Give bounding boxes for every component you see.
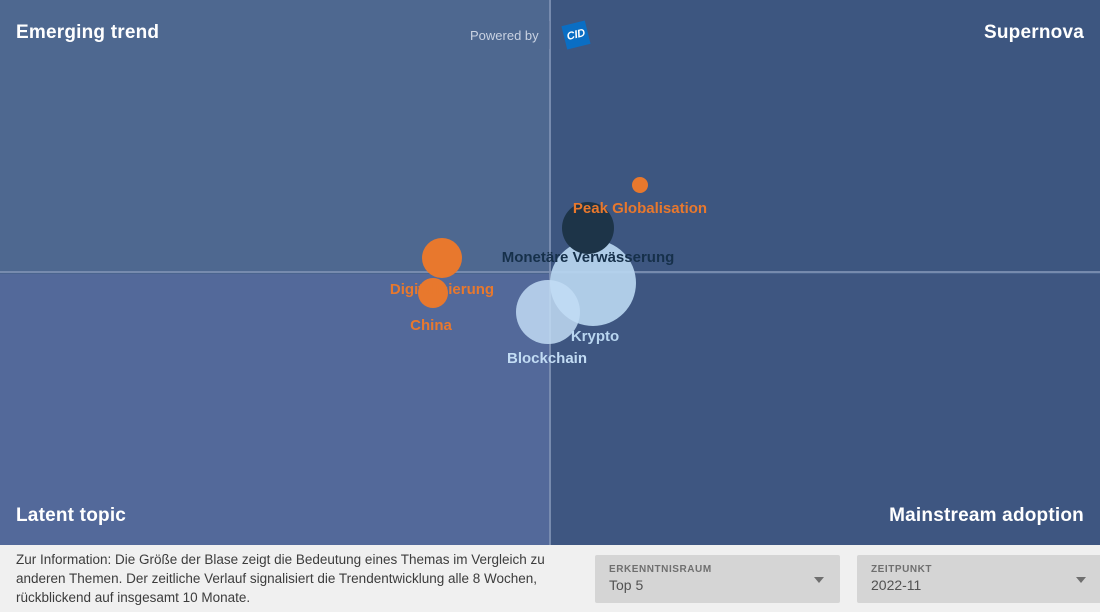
bubble-label-krypto: Krypto [571, 328, 619, 345]
axis-divider-horizontal [0, 271, 1100, 273]
footer-bar: Zur Information: Die Größe der Blase zei… [0, 545, 1100, 612]
quadrant-label-bottom-right: Mainstream adoption [889, 505, 1084, 527]
bubble-label-peak-globalisation: Peak Globalisation [573, 200, 707, 217]
select-zeitpunkt[interactable]: ZEITPUNKT 2022-11 [857, 555, 1100, 603]
trend-radar-app: Emerging trend Supernova Latent topic Ma… [0, 0, 1100, 612]
bubble-label-digitalisierung: Digitalisierung [390, 281, 494, 298]
bubble-label-blockchain: Blockchain [507, 350, 587, 367]
bubble-peak-globalisation[interactable] [632, 177, 648, 193]
cid-logo-text: CID [560, 20, 592, 50]
quadrant-label-top-left: Emerging trend [16, 22, 159, 44]
select-erkenntnisraum-value: Top 5 [609, 576, 826, 594]
select-erkenntnisraum[interactable]: ERKENNTNISRAUM Top 5 [595, 555, 840, 603]
powered-by-divider [549, 21, 550, 49]
chevron-down-icon[interactable] [814, 577, 824, 583]
footer-info-text: Zur Information: Die Größe der Blase zei… [0, 550, 595, 607]
powered-by-block: Powered by CID [470, 20, 592, 50]
bubble-label-monetaere: Monetäre Verwässerung [502, 249, 675, 266]
bubble-chart-canvas[interactable]: Emerging trend Supernova Latent topic Ma… [0, 0, 1100, 545]
bubble-digitalisierung[interactable] [422, 238, 462, 278]
chevron-down-icon[interactable] [1076, 577, 1086, 583]
powered-by-label: Powered by [470, 28, 539, 43]
select-zeitpunkt-label: ZEITPUNKT [871, 563, 1088, 576]
quadrant-label-bottom-left: Latent topic [16, 505, 126, 527]
bubble-label-china: China [410, 317, 452, 334]
select-zeitpunkt-value: 2022-11 [871, 576, 1088, 594]
footer-selects: ERKENNTNISRAUM Top 5 ZEITPUNKT 2022-11 [595, 555, 1100, 603]
select-erkenntnisraum-label: ERKENNTNISRAUM [609, 563, 826, 576]
cid-logo-icon[interactable]: CID [560, 20, 592, 50]
quadrant-label-top-right: Supernova [984, 22, 1084, 44]
